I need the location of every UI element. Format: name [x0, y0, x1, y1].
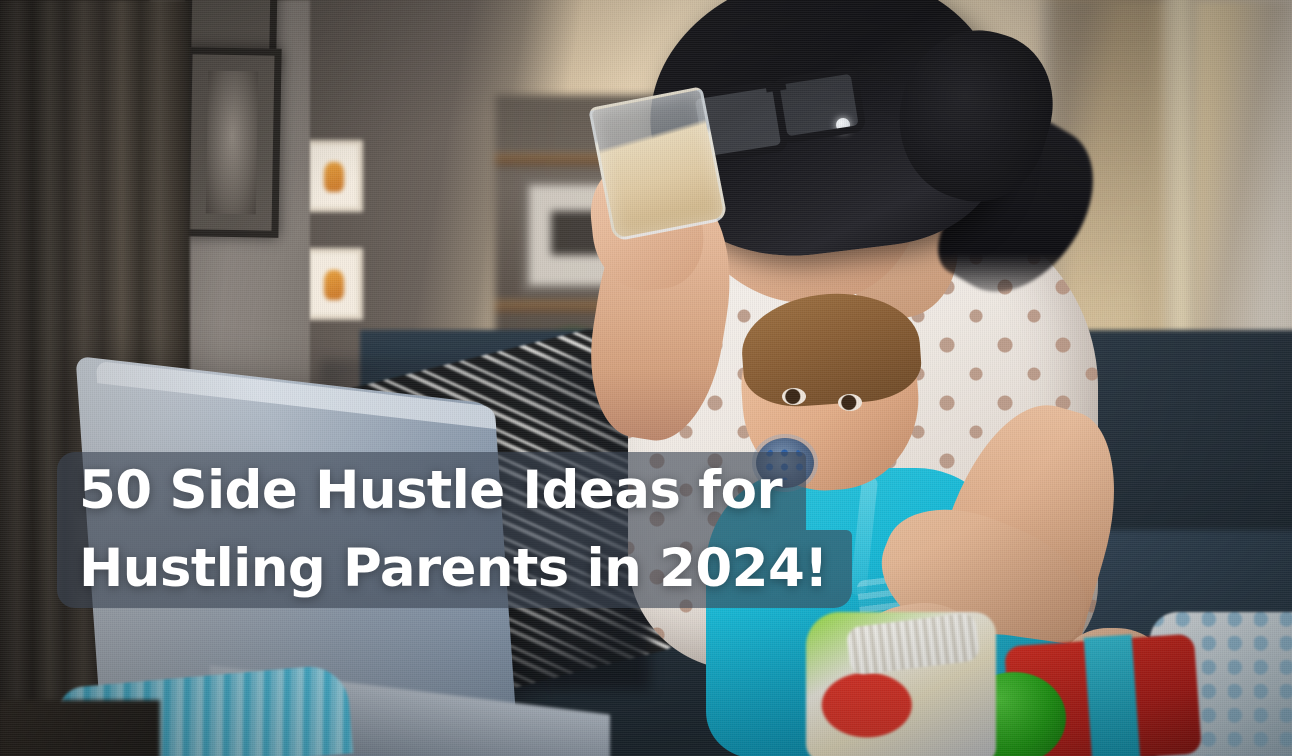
small-frame-lower — [305, 248, 363, 320]
pacifier-pattern — [762, 446, 806, 480]
wall-frame-artwork — [206, 71, 258, 215]
baby-right-eye — [838, 394, 862, 411]
eyeglasses-right-lens — [771, 66, 866, 145]
small-frame-upper — [305, 140, 363, 212]
baby-left-eye — [782, 388, 806, 405]
wall-frame-main — [182, 47, 281, 238]
hero-banner: 50 Side Hustle Ideas for Hustling Parent… — [0, 0, 1292, 756]
wall-small-frames — [305, 140, 365, 360]
dark-blanket-corner — [0, 700, 160, 756]
plush-toy-cyan-band — [1084, 634, 1141, 756]
